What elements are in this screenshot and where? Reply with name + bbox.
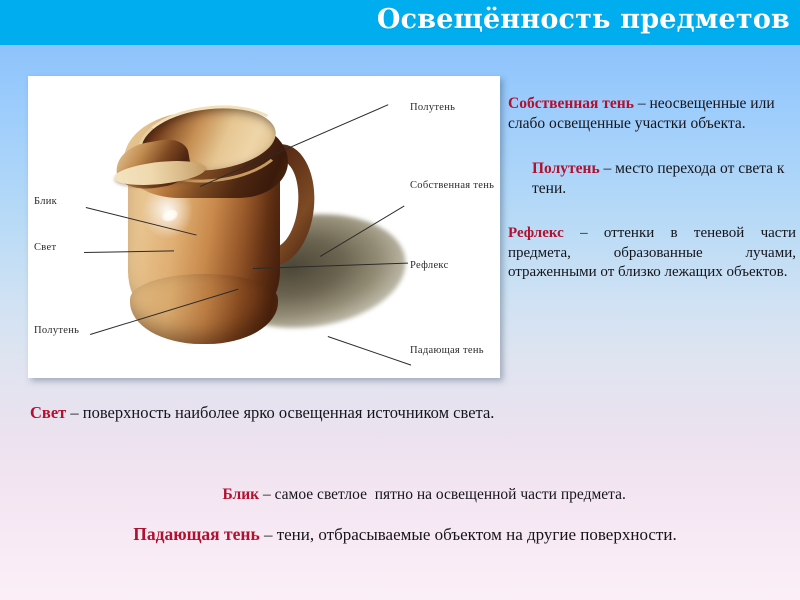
picture-label-svet: Свет [34,242,56,253]
definition-blik: Блик – самое светлое пятно на освещенной… [207,466,767,525]
slide: Освещённость предметов [0,0,800,600]
term-sobstvennaya-ten: Собственная тень [508,95,634,112]
picture-label-sobstvennaya-ten: Собственная тень [410,180,494,191]
definition-poluten: Полутень – место перехода от света к тен… [508,159,796,198]
picture-label-poluten-bottom: Полутень [34,325,79,336]
page-title: Освещённость предметов [377,4,790,35]
definition-refleks: Рефлекс – оттенки в теневой части предме… [508,224,796,283]
term-svet: Свет [30,403,66,422]
dash-poluten: – [600,160,616,177]
definition-padayushaya-ten: Падающая тень – тени, отбрасываемые объе… [55,523,755,547]
dash-padayushaya-ten: – [260,525,277,544]
definitions-column: Собственная тень – неосвещенные или слаб… [508,94,796,283]
dash-blik: – [259,486,275,503]
picture-label-poluten-top: Полутень [410,102,455,113]
body-svet: поверхность наиболее ярко освещенная ист… [83,403,495,422]
term-padayushaya-ten: Падающая тень [133,524,259,544]
pitcher-scene: Полутень Собственная тень Рефлекс Падающ… [28,76,500,378]
dash-sobstvennaya-ten: – [634,95,650,112]
body-blik: самое светлое пятно на освещенной части … [275,486,626,503]
picture-label-blik: Блик [34,196,57,207]
dash-refleks: – [564,225,604,241]
term-refleks: Рефлекс [508,225,564,241]
leader-line-padayushaya-ten [328,336,412,366]
pitcher-body-base [130,274,278,344]
definition-svet: Свет – поверхность наиболее ярко освещен… [30,402,530,423]
term-poluten: Полутень [532,160,600,177]
illustration-panel: Полутень Собственная тень Рефлекс Падающ… [28,76,500,378]
definition-sobstvennaya-ten: Собственная тень – неосвещенные или слаб… [508,94,796,133]
term-blik: Блик [223,486,260,503]
picture-label-refleks: Рефлекс [410,260,449,271]
body-padayushaya-ten: тени, отбрасываемые объектом на другие п… [277,525,677,544]
dash-svet: – [66,403,83,422]
picture-label-padayushaya-ten: Падающая тень [410,345,484,356]
